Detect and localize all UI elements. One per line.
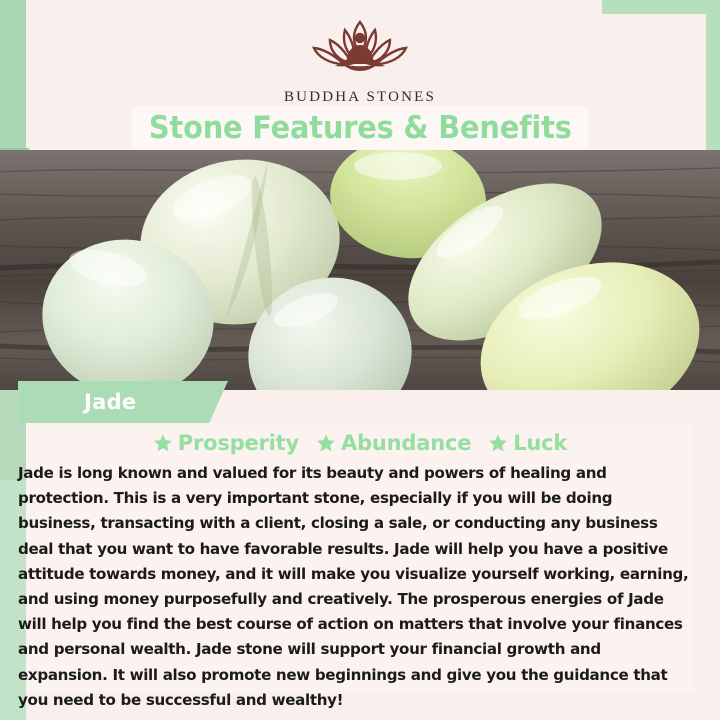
title-banner: Stone Features & Benefits [132, 106, 588, 150]
benefit-item: Abundance [316, 431, 471, 455]
infographic-page: BUDDHA STONES Stone Features & Benefits [0, 0, 720, 720]
benefit-label: Prosperity [178, 431, 299, 455]
star-icon [153, 433, 173, 453]
benefit-label: Abundance [341, 431, 471, 455]
star-icon [488, 433, 508, 453]
jade-stones-photo [0, 150, 720, 390]
content-panel: Prosperity Abundance Luck Jade is long k… [26, 423, 694, 693]
benefit-item: Prosperity [153, 431, 299, 455]
brand-name: BUDDHA STONES [284, 89, 436, 106]
brand-logo: BUDDHA STONES [284, 14, 436, 106]
page-title: Stone Features & Benefits [149, 110, 572, 146]
benefit-item: Luck [488, 431, 567, 455]
stone-name: Jade [84, 390, 136, 414]
star-icon [316, 433, 336, 453]
lotus-meditation-icon [290, 14, 430, 84]
stone-description: Jade is long known and valued for its be… [18, 455, 694, 713]
benefit-label: Luck [513, 431, 567, 455]
stone-name-banner: Jade [18, 381, 228, 423]
benefits-row: Prosperity Abundance Luck [26, 423, 694, 455]
